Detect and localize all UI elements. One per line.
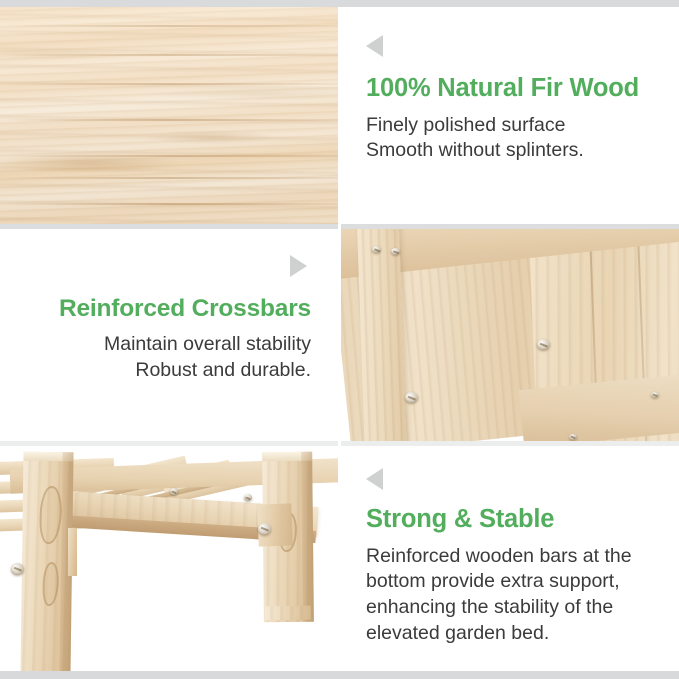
metal-bracket: [68, 528, 77, 576]
product-infographic: 100% Natural Fir Wood Finely polished su…: [0, 0, 679, 679]
screw-head-icon: [651, 392, 659, 398]
screw-head-icon: [258, 523, 271, 535]
image-reinforced-crossbar-planks: [341, 229, 679, 441]
grain-line: [0, 203, 338, 205]
image-legs-and-support-bars: [0, 446, 338, 671]
grain-line: [0, 83, 338, 85]
wood-knot: [42, 562, 59, 606]
legs-scene: [0, 446, 338, 671]
panel-2-headline: Reinforced Crossbars: [59, 295, 311, 322]
top-edge-bar: [0, 0, 679, 7]
panel-2-body: Maintain overall stability Robust and du…: [104, 332, 311, 383]
panel-3-body: Reinforced wooden bars at the bottom pro…: [366, 544, 632, 648]
panel-2-body-line: Maintain overall stability: [104, 332, 311, 357]
panel-3-headline: Strong & Stable: [366, 505, 554, 534]
panel-1-body-line: Finely polished surface: [366, 113, 584, 138]
grain-line: [0, 177, 338, 179]
image-fir-wood-closeup: [0, 7, 338, 224]
panel-3-body-line: bottom provide extra support,: [366, 569, 632, 595]
screw-head-icon: [405, 392, 418, 403]
panel-3-body-line: elevated garden bed.: [366, 621, 632, 647]
panel-3-body-line: Reinforced wooden bars at the: [366, 544, 632, 570]
panel-2-body-line: Robust and durable.: [104, 358, 311, 383]
text-panel-reinforced-crossbars: Reinforced Crossbars Maintain overall st…: [0, 229, 338, 441]
leg-left: [20, 452, 73, 671]
panel-1-body: Finely polished surface Smooth without s…: [366, 113, 584, 164]
screw-head-icon: [244, 494, 252, 501]
screw-head-icon: [11, 563, 24, 575]
text-panel-strong-and-stable: Strong & Stable Reinforced wooden bars a…: [341, 446, 679, 671]
grain-line: [0, 119, 338, 121]
leg-side-face: [301, 452, 314, 622]
triangle-right-icon: [290, 255, 307, 277]
screw-head-icon: [537, 339, 550, 350]
divider-vertical: [338, 7, 341, 672]
leg-right-foot: [265, 606, 311, 621]
screw-head-icon: [391, 248, 400, 255]
screw-head-icon: [170, 488, 178, 495]
panel-1-headline: 100% Natural Fir Wood: [366, 74, 639, 103]
bottom-edge-bar: [0, 671, 679, 679]
planks-scene: [341, 229, 679, 441]
grain-line: [0, 54, 338, 56]
panel-3-body-line: enhancing the stability of the: [366, 595, 632, 621]
grain-line: [0, 25, 338, 27]
screw-head-icon: [569, 434, 577, 440]
triangle-left-icon: [366, 35, 383, 57]
wood-grain-texture: [0, 7, 338, 224]
panel-1-body-line: Smooth without splinters.: [366, 138, 584, 163]
screw-head-icon: [372, 246, 381, 253]
vertical-crossbar: [357, 229, 407, 441]
wood-knot: [39, 486, 62, 544]
grain-line: [0, 155, 338, 157]
text-panel-natural-fir-wood: 100% Natural Fir Wood Finely polished su…: [341, 7, 679, 224]
triangle-left-icon: [366, 468, 383, 490]
